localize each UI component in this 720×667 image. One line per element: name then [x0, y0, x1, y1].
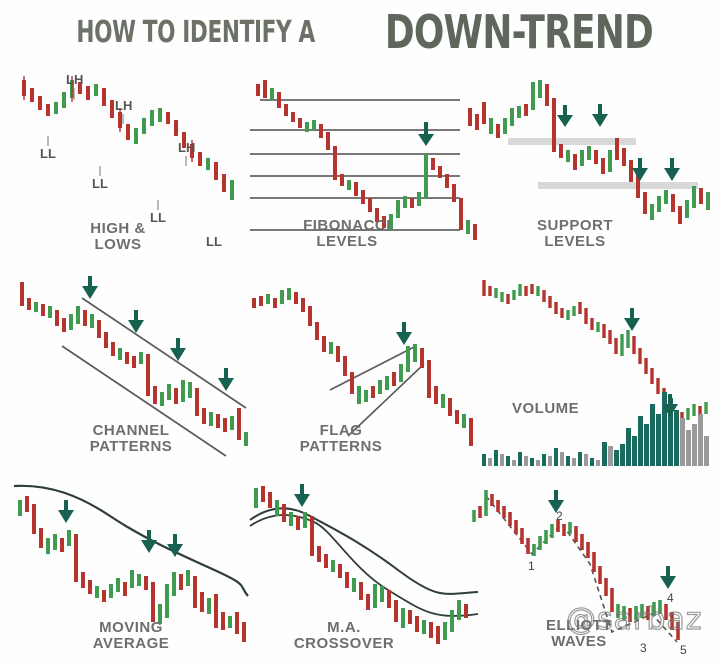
caption-volume: VOLUME	[512, 401, 632, 417]
caption-channel-patterns: CHANNEL PATTERNS	[56, 423, 206, 455]
candles-support	[470, 80, 708, 224]
arrow-channel-1	[82, 276, 98, 299]
wave-label-5: 5	[680, 643, 687, 657]
caption-flag-patterns: FLAG PATTERNS	[266, 423, 416, 455]
panel-support-levels: SUPPORT LEVELS	[462, 62, 717, 262]
support-band-2	[538, 182, 698, 189]
arrow-crossover-1	[294, 484, 310, 507]
marker-ll-1: LL	[40, 146, 56, 161]
channel-line-upper	[82, 298, 246, 408]
arrow-elliott-2	[660, 566, 676, 589]
arrow-flag-1	[396, 322, 412, 345]
panel-moving-average: MOVING AVERAGE	[10, 472, 250, 664]
arrow-support-2	[592, 104, 608, 127]
marker-lh-3: LH	[178, 140, 195, 155]
arrow-volume-1	[624, 308, 640, 331]
panel-volume: VOLUME	[462, 268, 717, 473]
ma-line-fast	[250, 515, 478, 616]
panel-high-lows: HIGH & LOWS LH LL LH LL LH LL LL	[10, 62, 250, 262]
marker-lh-1: LH	[66, 72, 83, 87]
panel-fibonacci-levels: FIBONACCI LEVELS	[248, 62, 480, 262]
arrow-channel-4	[218, 368, 234, 391]
arrows-volume	[624, 308, 678, 417]
title-main-text: DOWN-TREND	[385, 5, 653, 59]
arrow-channel-3	[170, 338, 186, 361]
chart-volume	[462, 268, 717, 473]
arrow-support-4	[664, 158, 680, 181]
arrow-support-1	[557, 105, 573, 127]
arrow-ma-1	[58, 500, 74, 523]
marker-ll-2: LL	[92, 176, 108, 191]
arrow-ma-2	[141, 530, 157, 553]
title-lead-text: HOW TO IDENTIFY A	[76, 15, 314, 50]
panel-elliott-waves: 1 2 3 4 5 ELLIOTT WAVES	[462, 472, 717, 666]
panel-flag-patterns: FLAG PATTERNS	[248, 268, 480, 468]
arrow-fibonacci-1	[418, 122, 434, 146]
marker-ll-4: LL	[206, 234, 222, 249]
marker-lh-2: LH	[115, 98, 132, 113]
caption-ma-crossover: M.A. CROSSOVER	[264, 620, 424, 652]
candles-fibonacci	[258, 80, 475, 240]
page-title: HOW TO IDENTIFY A DOWN-TREND	[0, 6, 720, 58]
caption-support-levels: SUPPORT LEVELS	[500, 218, 650, 250]
arrows-elliott	[548, 490, 676, 589]
wave-label-4: 4	[667, 591, 674, 605]
panel-ma-crossover: M.A. CROSSOVER	[248, 472, 480, 664]
caption-elliott-waves: ELLIOTT WAVES	[504, 618, 654, 650]
arrows-ma-crossover	[294, 484, 310, 507]
caption-fibonacci-levels: FIBONACCI LEVELS	[272, 218, 422, 250]
infographic-root: HOW TO IDENTIFY A DOWN-TREND HIGH &	[0, 0, 720, 667]
arrow-support-3	[632, 158, 648, 181]
caption-high-lows: HIGH & LOWS	[58, 221, 178, 253]
caption-moving-average: MOVING AVERAGE	[56, 620, 206, 652]
panel-channel-patterns: CHANNEL PATTERNS	[10, 268, 250, 468]
arrows-flag	[396, 322, 412, 345]
fibonacci-lines	[250, 100, 460, 230]
wave-label-1: 1	[528, 559, 535, 573]
